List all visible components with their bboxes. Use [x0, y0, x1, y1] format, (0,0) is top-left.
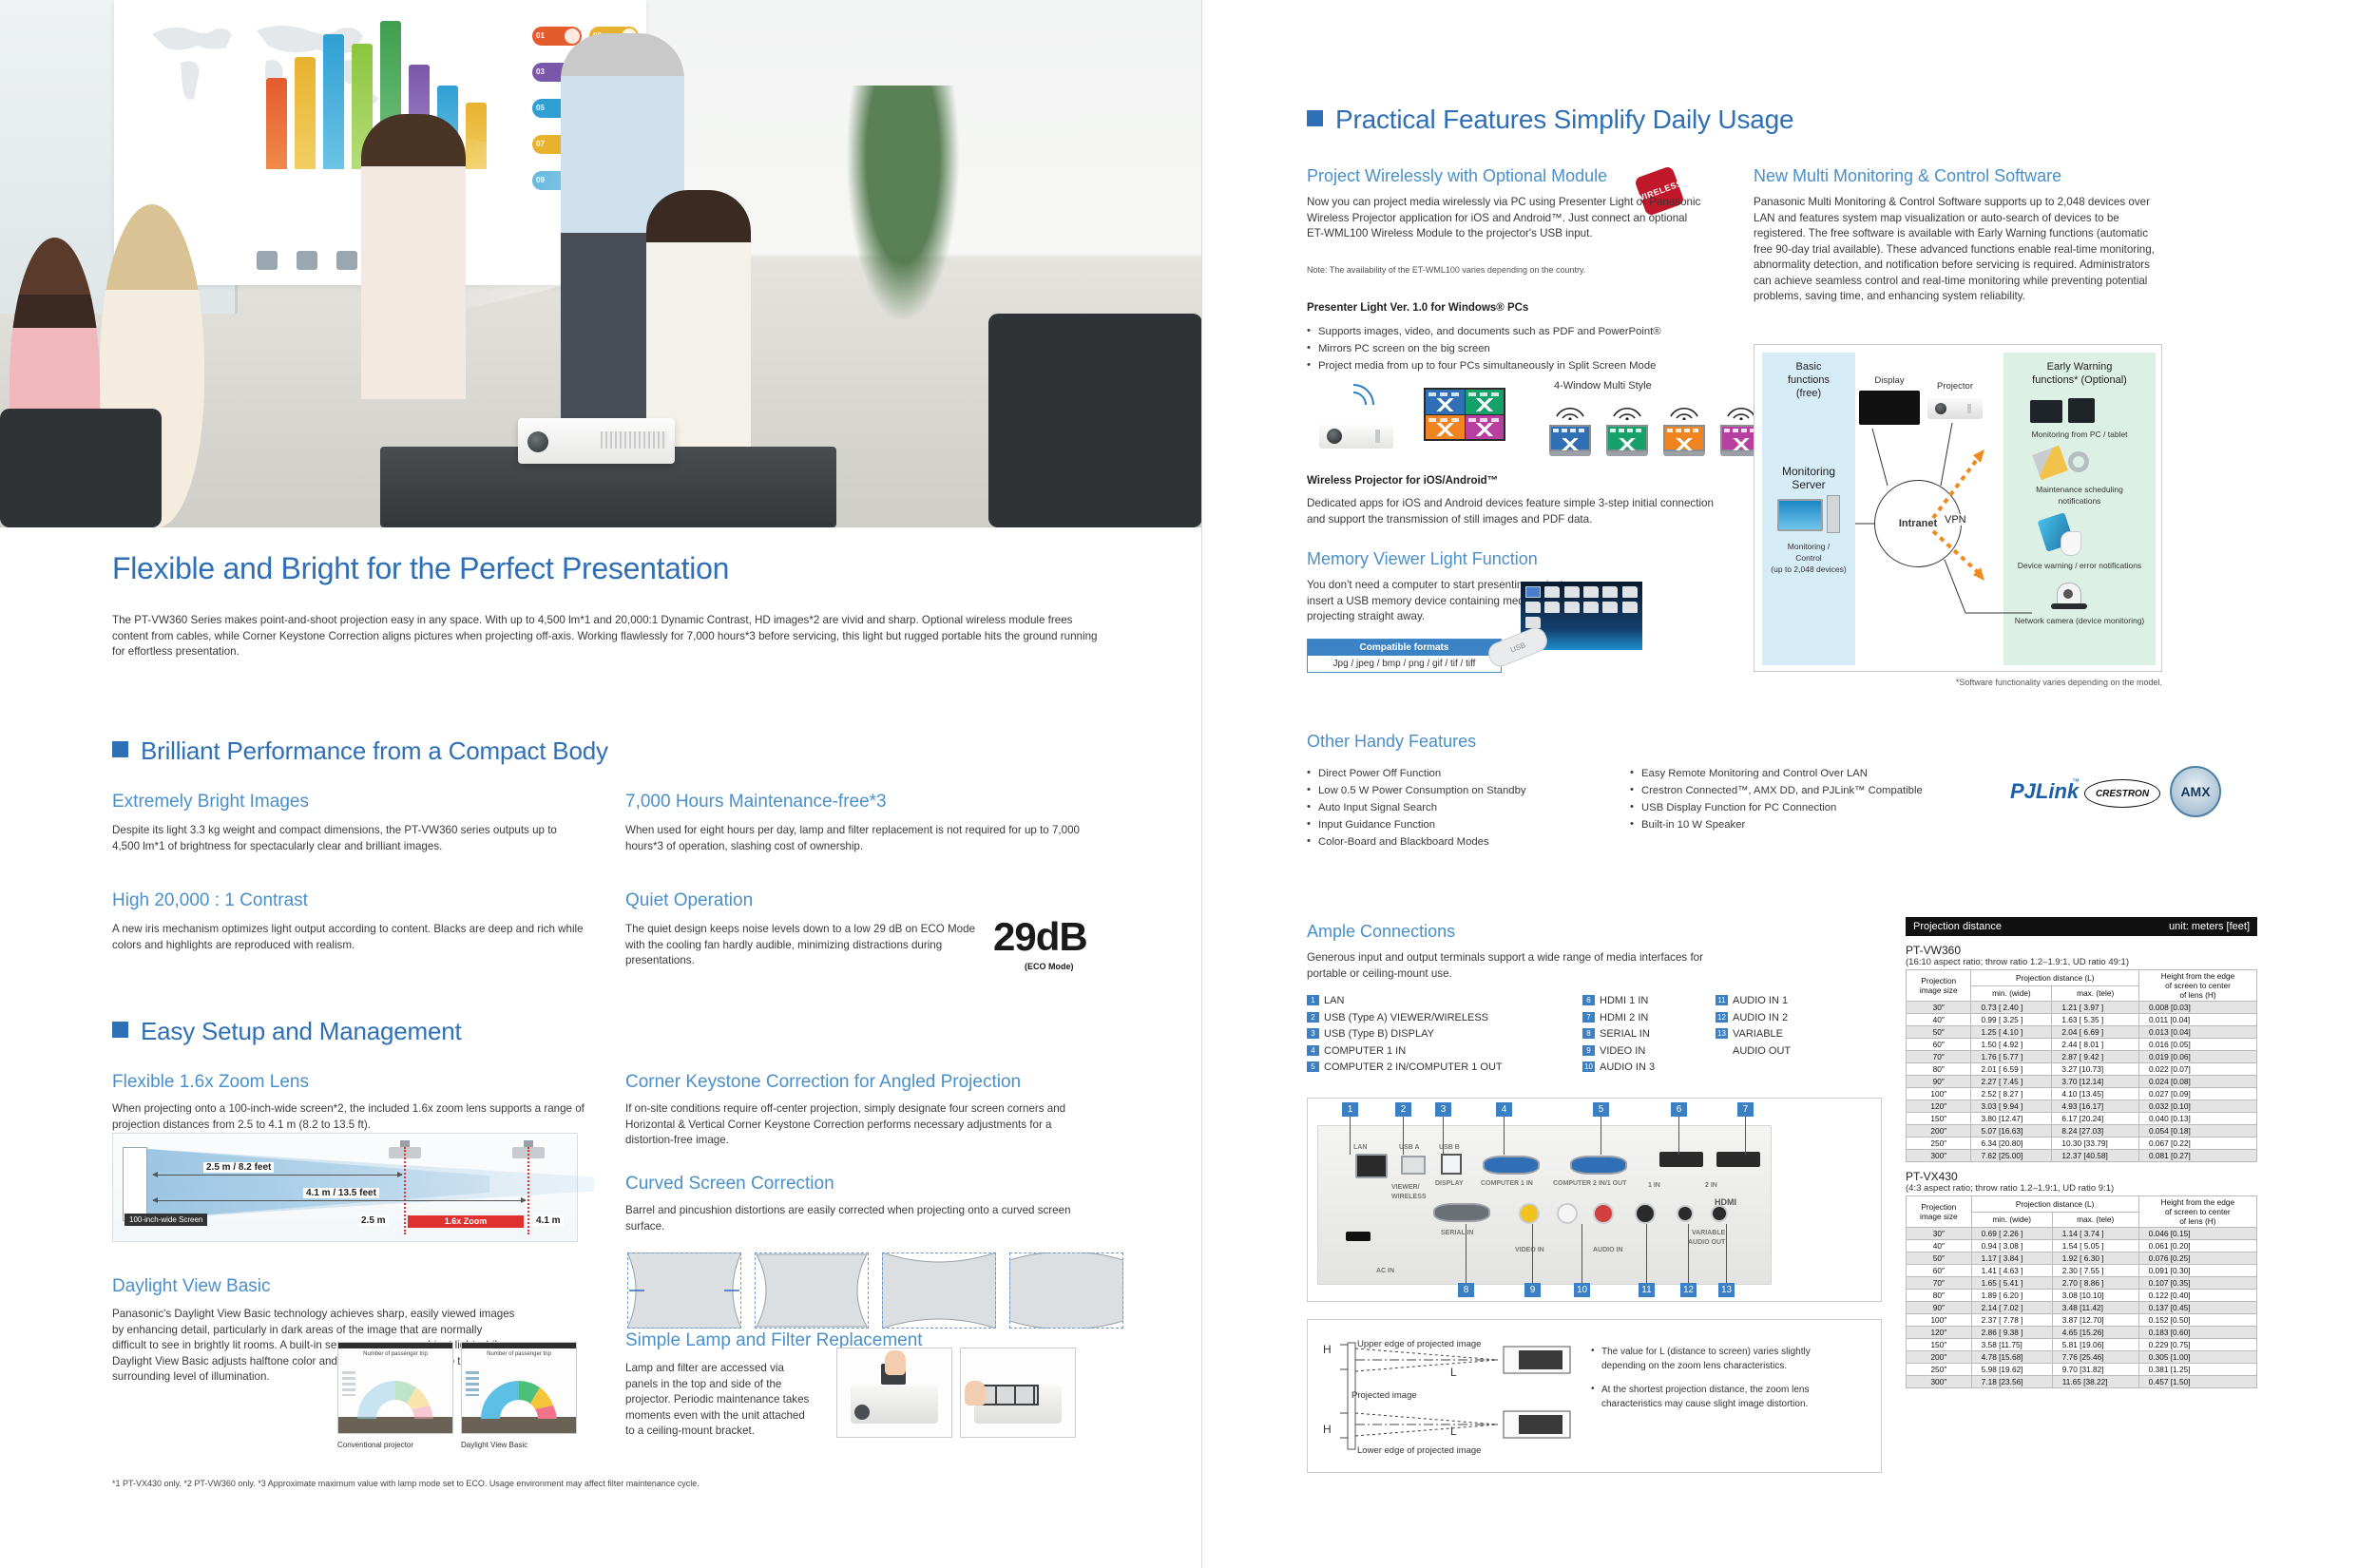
table-row: 120″2.86 [ 9.38 ]4.65 [15.26]0.183 [0.60…	[1907, 1327, 2257, 1339]
other-features-title: Other Handy Features	[1307, 732, 1476, 752]
connection-item: 10AUDIO IN 3	[1582, 1060, 1655, 1077]
folder-icon	[1544, 602, 1560, 613]
terminal-callout: 10	[1574, 1283, 1590, 1297]
projection-distance-table-vw360: Projectionimage size Projection distance…	[1906, 969, 2257, 1162]
usb-stick-icon: USB	[1485, 624, 1550, 670]
geometry-note: At the shortest projection distance, the…	[1591, 1383, 1829, 1411]
callout-leader	[1601, 1117, 1601, 1155]
table-cell: 0.046 [0.15]	[2138, 1228, 2256, 1240]
callout-leader	[1403, 1117, 1404, 1155]
table-cell: 0.081 [0.27]	[2138, 1150, 2256, 1162]
connection-number	[1716, 1045, 1728, 1056]
table-row: 200″5.07 [16.63]8.24 [27.03]0.054 [0.18]	[1907, 1125, 2257, 1138]
th-max-tele: max. (tele)	[2052, 1212, 2138, 1228]
terminal-callout: 13	[1718, 1283, 1735, 1297]
table-cell: 0.229 [0.75]	[2138, 1339, 2256, 1351]
folder-icon	[1583, 586, 1599, 598]
table-row: 150″3.58 [11.75]5.81 [19.06]0.229 [0.75]	[1907, 1339, 2257, 1351]
table-cell: 6.34 [20.80]	[1971, 1138, 2052, 1150]
connection-number: 7	[1582, 1012, 1595, 1023]
table-cell: 3.80 [12.47]	[1971, 1113, 2052, 1125]
connection-label: AUDIO IN 3	[1600, 1061, 1655, 1073]
table-cell: 50″	[1907, 1252, 1972, 1265]
label-computer2: COMPUTER 2 IN/1 OUT	[1553, 1180, 1626, 1187]
table-cell: 2.37 [ 7.78 ]	[1971, 1314, 2052, 1327]
table-cell: 0.022 [0.07]	[2138, 1063, 2256, 1076]
folder-icon	[1602, 602, 1618, 613]
other-feature-item: Built-in 10 W Speaker	[1630, 816, 1982, 833]
other-features-right: Easy Remote Monitoring and Control Over …	[1630, 765, 1982, 833]
table-cell: 80″	[1907, 1290, 1972, 1302]
table-cell: 0.152 [0.50]	[2138, 1314, 2256, 1327]
table-cell: 30″	[1907, 1002, 1971, 1014]
folder-icon	[1564, 586, 1580, 598]
table-cell: 60″	[1907, 1265, 1972, 1277]
terminal-callout: 11	[1639, 1283, 1655, 1297]
geometry-note: The value for L (distance to screen) var…	[1591, 1345, 1829, 1373]
label-viewer: VIEWER/	[1391, 1184, 1420, 1191]
wifi-icon	[1549, 403, 1591, 420]
table-cell: 0.457 [1.50]	[2138, 1376, 2256, 1388]
terminal-callout: 7	[1737, 1102, 1754, 1117]
laptop-with-wifi	[1549, 403, 1591, 456]
maintenance-label: Maintenance scheduling notifications	[2003, 484, 2156, 507]
label-hdmi1in: 1 IN	[1648, 1182, 1660, 1189]
camera-base	[2051, 603, 2087, 609]
folder-icon	[1622, 586, 1638, 598]
table-cell: 4.78 [15.68]	[1971, 1351, 2052, 1364]
table-cell: 150″	[1907, 1113, 1971, 1125]
table-cell: 90″	[1907, 1302, 1972, 1314]
connection-label: USB (Type B) DISPLAY	[1324, 1028, 1434, 1040]
table-cell: 2.86 [ 9.38 ]	[1971, 1327, 2052, 1339]
table-cell: 0.032 [0.10]	[2138, 1100, 2256, 1113]
table-row: 30″0.69 [ 2.26 ]1.14 [ 3.74 ]0.046 [0.15…	[1907, 1228, 2257, 1240]
folder-icon	[1525, 617, 1541, 628]
table-cell: 70″	[1907, 1277, 1972, 1290]
label-variable: VARIABLE	[1692, 1230, 1725, 1236]
table-cell: 1.17 [ 3.84 ]	[1971, 1252, 2052, 1265]
monitoring-from-pc-label: Monitoring from PC / tablet	[2003, 429, 2156, 440]
folder-icon	[1525, 602, 1541, 613]
table-cell: 0.054 [0.18]	[2138, 1125, 2256, 1138]
quad-magenta	[1466, 415, 1505, 440]
audio-in-3-r	[1593, 1203, 1614, 1224]
table-cell: 0.122 [0.40]	[2138, 1290, 2256, 1302]
other-feature-item: Direct Power Off Function	[1307, 765, 1620, 782]
table-cell: 120″	[1907, 1327, 1972, 1339]
th-distance: Projection distance (L)	[1971, 970, 2139, 986]
table-cell: 1.14 [ 3.74 ]	[2052, 1228, 2138, 1240]
callout-leader	[1466, 1224, 1467, 1283]
projection-geometry-diagram: H H L L Upper edge of projected image Lo…	[1307, 1319, 1882, 1473]
label-serial: SERIAL IN	[1441, 1230, 1474, 1236]
diagram-dashline-near	[404, 1147, 406, 1234]
table-cell: 2.70 [ 8.86 ]	[2052, 1277, 2138, 1290]
laptop-icon	[1663, 425, 1705, 456]
table-row: 70″1.76 [ 5.77 ]2.87 [ 9.42 ]0.019 [0.06…	[1907, 1051, 2257, 1063]
filter-replacement-photo	[960, 1348, 1076, 1438]
table-row: 60″1.50 [ 4.92 ]2.44 [ 8.01 ]0.016 [0.05…	[1907, 1039, 2257, 1051]
audio-in-1-port	[1635, 1203, 1656, 1224]
step-pill: 01	[532, 27, 582, 46]
table-cell: 2.30 [ 7.55 ]	[2052, 1265, 2138, 1277]
selected-item-icon	[1525, 586, 1541, 598]
table-cell: 3.87 [12.70]	[2052, 1314, 2138, 1327]
table-cell: 0.040 [0.13]	[2138, 1113, 2256, 1125]
feature-title-mmc: New Multi Monitoring & Control Software	[1754, 166, 2061, 186]
feature-body-quiet: The quiet design keeps noise levels down…	[625, 922, 987, 969]
th-max-tele: max. (tele)	[2052, 985, 2139, 1002]
table-row: 90″2.14 [ 7.02 ]3.48 [11.42]0.137 [0.45]	[1907, 1302, 2257, 1314]
laptop-with-wifi	[1606, 403, 1648, 456]
connection-label: SERIAL IN	[1600, 1028, 1650, 1040]
connection-label: VARIABLE	[1733, 1028, 1783, 1040]
table-cell: 1.21 [ 3.97 ]	[2052, 1002, 2139, 1014]
table-cell: 1.76 [ 5.77 ]	[1971, 1051, 2052, 1063]
connection-number: 9	[1582, 1045, 1595, 1056]
vpn-label: VPN	[1943, 514, 1968, 526]
folder-icon	[1564, 602, 1580, 613]
camera-lens	[2063, 589, 2073, 599]
hand-icon	[885, 1350, 906, 1375]
th-height: Height from the edgeof screen to centero…	[2138, 970, 2256, 1002]
upper-edge-label: Upper edge of projected image	[1357, 1339, 1481, 1349]
table-row: 150″3.80 [12.47]6.17 [20.24]0.040 [0.13]	[1907, 1113, 2257, 1125]
laptop-with-wifi	[1663, 403, 1705, 456]
daylight-caption-conventional: Conventional projector	[337, 1441, 413, 1449]
table-cell: 10.30 [33.79]	[2052, 1138, 2139, 1150]
presenter-bullet: Project media from up to four PCs simult…	[1307, 357, 1744, 374]
table-cell: 50″	[1907, 1026, 1971, 1039]
label-audio-in: AUDIO IN	[1593, 1247, 1623, 1253]
connections-body: Generous input and output terminals supp…	[1307, 950, 1744, 982]
other-feature-item: Auto Input Signal Search	[1307, 799, 1620, 816]
connection-number: 3	[1307, 1028, 1319, 1039]
laptop-base	[1549, 451, 1591, 456]
monitoring-diagram: Basic functions (free) Early Warning fun…	[1754, 344, 2162, 672]
table-cell: 2.27 [ 7.45 ]	[1971, 1076, 2052, 1088]
connection-item: 6HDMI 1 IN	[1582, 993, 1655, 1010]
terminal-callout: 6	[1671, 1102, 1687, 1117]
quad-orange	[1426, 415, 1465, 440]
table-cell: 300″	[1907, 1376, 1972, 1388]
connection-label: COMPUTER 1 IN	[1324, 1045, 1406, 1057]
table-cell: 5.98 [19.62]	[1971, 1364, 2052, 1376]
table-cell: 0.011 [0.04]	[2138, 1014, 2256, 1026]
table-cell: 2.04 [ 6.69 ]	[2052, 1026, 2139, 1039]
terminal-callout: 12	[1680, 1283, 1697, 1297]
th-height: Height from the edgeof screen to centero…	[2138, 1196, 2256, 1228]
wireless-note: Note: The availability of the ET-WML100 …	[1307, 264, 1716, 276]
table-cell: 0.013 [0.04]	[2138, 1026, 2256, 1039]
table-cell: 1.92 [ 6.30 ]	[2052, 1252, 2138, 1265]
table-cell: 150″	[1907, 1339, 1972, 1351]
projector-light	[1375, 430, 1380, 443]
connection-number: 12	[1716, 1012, 1728, 1023]
terminal-callout: 9	[1524, 1283, 1541, 1297]
l-label-bottom: L	[1450, 1425, 1457, 1438]
pc-monitor-icon	[2030, 400, 2062, 423]
terminal-panel-photo: LAN USB A USB B DISPLAY VIEWER/ WIRELESS…	[1307, 1098, 1882, 1302]
connection-label: HDMI 2 IN	[1600, 1012, 1648, 1023]
table-cell: 250″	[1907, 1138, 1971, 1150]
table-cell: 0.183 [0.60]	[2138, 1327, 2256, 1339]
curve-shape-pincushion-h	[627, 1252, 741, 1329]
person-woman-3	[361, 114, 466, 399]
laptop-base	[1606, 451, 1648, 456]
laptop-icon	[1549, 425, 1591, 456]
diagram-arrow-min	[153, 1175, 402, 1176]
label-video: VIDEO IN	[1515, 1247, 1544, 1253]
callout-leader	[1443, 1117, 1444, 1155]
folder-icon	[1622, 602, 1638, 613]
table-cell: 2.44 [ 8.01 ]	[2052, 1039, 2139, 1051]
table-cell: 40″	[1907, 1240, 1972, 1252]
table-cell: 3.27 [10.73]	[2052, 1063, 2139, 1076]
table-cell: 3.03 [ 9.94 ]	[1971, 1100, 2052, 1113]
table-cell: 0.016 [0.05]	[2138, 1039, 2256, 1051]
table-row: 250″5.98 [19.62]9.70 [31.82]0.381 [1.25]	[1907, 1364, 2257, 1376]
table-row: 90″2.27 [ 7.45 ]3.70 [12.14]0.024 [0.08]	[1907, 1076, 2257, 1088]
label-computer1: COMPUTER 1 IN	[1481, 1180, 1533, 1187]
daylight-image-dvb: Number of passenger trip	[461, 1342, 577, 1434]
table-row: 200″4.78 [15.68]7.76 [25.46]0.305 [1.00]	[1907, 1351, 2257, 1364]
feature-body-curved: Barrel and pincushion distortions are ea…	[625, 1203, 1072, 1234]
hand-icon	[965, 1381, 986, 1405]
hdmi1-port	[1659, 1152, 1703, 1167]
other-feature-item: Color-Board and Blackboard Modes	[1307, 833, 1620, 851]
presenter-bullet: Mirrors PC screen on the big screen	[1307, 340, 1744, 357]
connection-label: AUDIO OUT	[1733, 1045, 1791, 1057]
table-cell: 40″	[1907, 1014, 1971, 1026]
diagram-right-value: 4.1 m	[533, 1215, 564, 1226]
table-cell: 4.93 [16.17]	[2052, 1100, 2139, 1113]
feature-body-contrast: A new iris mechanism optimizes light out…	[112, 922, 587, 953]
section-bullet-square	[112, 741, 128, 757]
pd-title: Projection distance	[1913, 921, 2002, 932]
table-cell: 0.107 [0.35]	[2138, 1277, 2256, 1290]
security-slot	[1346, 1232, 1371, 1241]
connection-number: 1	[1307, 995, 1319, 1005]
audio-in-3-l	[1557, 1203, 1578, 1224]
table-cell: 60″	[1907, 1039, 1971, 1051]
table-row: 100″2.37 [ 7.78 ]3.87 [12.70]0.152 [0.50…	[1907, 1314, 2257, 1327]
ios-android-title: Wireless Projector for iOS/Android™	[1307, 475, 1498, 487]
connections-column-1: 1LAN2USB (Type A) VIEWER/WIRELESS3USB (T…	[1307, 993, 1503, 1077]
diagram-arrow-max	[153, 1200, 526, 1201]
connection-number: 10	[1582, 1061, 1595, 1072]
presenter-bullet-list: Supports images, video, and documents su…	[1307, 323, 1744, 374]
connection-label: AUDIO IN 2	[1733, 1012, 1788, 1023]
bulb-icon	[336, 251, 357, 270]
table2-model: PT-VX430	[1906, 1170, 2257, 1183]
table-cell: 0.94 [ 3.08 ]	[1971, 1240, 2052, 1252]
connection-number: 5	[1307, 1061, 1319, 1072]
table-cell: 3.70 [12.14]	[2052, 1076, 2139, 1088]
halfdonut-conventional	[338, 1364, 452, 1421]
projector-vents	[601, 431, 667, 449]
usb-b-port	[1441, 1154, 1462, 1175]
connections-column-3: 11AUDIO IN 112AUDIO IN 213VARIABLE AUDIO…	[1716, 993, 1791, 1060]
wifi-icon	[1606, 403, 1648, 420]
table-cell: 120″	[1907, 1100, 1971, 1113]
callout-leader	[1678, 1117, 1679, 1155]
curve-shape-barrel-v	[1009, 1252, 1123, 1329]
table-cell: 0.024 [0.08]	[2138, 1076, 2256, 1088]
sofa-left	[0, 409, 162, 527]
presenter-bullet: Supports images, video, and documents su…	[1307, 323, 1744, 340]
table-cell: 2.14 [ 7.02 ]	[1971, 1302, 2052, 1314]
projection-distance-table-vx430: Projectionimage size Projection distance…	[1906, 1195, 2257, 1388]
feature-title-zoomlens: Flexible 1.6x Zoom Lens	[112, 1072, 309, 1093]
callout-leader	[1646, 1224, 1647, 1283]
connection-item: 12AUDIO IN 2	[1716, 1010, 1791, 1027]
table-cell: 1.41 [ 4.63 ]	[1971, 1265, 2052, 1277]
legend-conventional	[342, 1371, 355, 1396]
variable-audio-out-port	[1711, 1205, 1728, 1222]
h-label-bottom: H	[1323, 1423, 1332, 1436]
table2-spec: (4:3 aspect ratio; throw ratio 1.2–1.9:1…	[1906, 1183, 2257, 1194]
label-lan: LAN	[1353, 1144, 1367, 1151]
table-cell: 1.54 [ 5.05 ]	[2052, 1240, 2138, 1252]
legend-dvb	[466, 1371, 479, 1396]
th-min-wide: min. (wide)	[1971, 985, 2052, 1002]
callout-leader	[1350, 1117, 1351, 1155]
callout-leader	[1532, 1224, 1533, 1283]
geometry-notes: The value for L (distance to screen) var…	[1591, 1345, 1829, 1421]
diagram-dashline-far	[527, 1147, 529, 1234]
connection-item: AUDIO OUT	[1716, 1043, 1791, 1061]
table-row: 80″1.89 [ 6.20 ]3.08 [10.10]0.122 [0.40]	[1907, 1290, 2257, 1302]
serial-in-port	[1433, 1203, 1490, 1222]
projector-device	[518, 418, 675, 464]
table-row: 60″1.41 [ 4.63 ]2.30 [ 7.55 ]0.091 [0.30…	[1907, 1265, 2257, 1277]
rear-panel	[1317, 1125, 1772, 1285]
split-screen-illustration	[1424, 388, 1505, 441]
label-wireless: WIRELESS	[1391, 1194, 1427, 1200]
halfdonut-dvb	[462, 1364, 576, 1421]
table-row: 30″0.73 [ 2.40 ]1.21 [ 3.97 ]0.008 [0.03…	[1907, 1002, 2257, 1014]
video-in-port	[1519, 1203, 1540, 1224]
connection-item: 9VIDEO IN	[1582, 1043, 1655, 1061]
zoom-lens-diagram: 2.5 m / 8.2 feet 4.1 m / 13.5 feet 1.6x …	[112, 1133, 578, 1242]
projection-distance-header: Projection distance unit: meters [feet]	[1906, 917, 2257, 936]
device-warning-label: Device warning / error notifications	[2003, 560, 2156, 571]
diagram-screen-label: 100-inch-wide Screen	[125, 1214, 207, 1226]
table-row: 50″1.17 [ 3.84 ]1.92 [ 6.30 ]0.076 [0.25…	[1907, 1252, 2257, 1265]
computer2-in-port	[1570, 1156, 1627, 1175]
folder-grid	[1525, 586, 1638, 628]
th-distance: Projection distance (L)	[1971, 1196, 2138, 1213]
callout-leader	[1582, 1224, 1582, 1283]
section-heading-performance: Brilliant Performance from a Compact Bod…	[112, 736, 608, 766]
connection-label: AUDIO IN 1	[1733, 995, 1788, 1006]
connection-label: VIDEO IN	[1600, 1045, 1645, 1057]
table-row: 40″0.94 [ 3.08 ]1.54 [ 5.05 ]0.061 [0.20…	[1907, 1240, 2257, 1252]
other-feature-item: USB Display Function for PC Connection	[1630, 799, 1982, 816]
feature-body-hours: When used for eight hours per day, lamp …	[625, 823, 1101, 854]
terminal-callout: 4	[1496, 1102, 1512, 1117]
table-cell: 0.73 [ 2.40 ]	[1971, 1002, 2052, 1014]
daylight-image-conventional: Number of passenger trip	[337, 1342, 453, 1434]
table1-spec: (16:10 aspect ratio; throw ratio 1.2–1.9…	[1906, 957, 2257, 967]
connection-item: 13VARIABLE	[1716, 1026, 1791, 1043]
label-display: DISPLAY	[1435, 1180, 1464, 1187]
formats-value: Jpg / jpeg / bmp / png / gif / tif / tif…	[1308, 656, 1501, 672]
amx-logo: AMX	[2170, 766, 2221, 817]
table-cell: 12.37 [40.58]	[2052, 1150, 2139, 1162]
table-cell: 0.99 [ 3.25 ]	[1971, 1014, 2052, 1026]
laptop-row	[1549, 403, 1762, 456]
laptop-icon	[1606, 425, 1648, 456]
left-page: 01020304050607080910	[0, 0, 1202, 1568]
table-cell: 11.65 [38.22]	[2052, 1376, 2138, 1388]
table-cell: 70″	[1907, 1051, 1971, 1063]
callout-leader	[1726, 1224, 1727, 1283]
folder-icon	[1583, 602, 1599, 613]
folder-icon	[1602, 586, 1618, 598]
hand-icon	[2061, 531, 2081, 556]
table-cell: 2.01 [ 6.59 ]	[1971, 1063, 2052, 1076]
l-label-top: L	[1450, 1366, 1457, 1379]
callout-leader	[1745, 1117, 1746, 1155]
crestron-logo: CRESTRON	[2084, 779, 2160, 808]
brochure-page: 01020304050607080910	[0, 0, 2358, 1568]
daylight-chart-title: Number of passenger trip	[462, 1351, 576, 1357]
other-feature-item: Easy Remote Monitoring and Control Over …	[1630, 765, 1982, 782]
audio-in-2-port	[1677, 1205, 1694, 1222]
connection-label: LAN	[1324, 995, 1344, 1006]
noise-level-value: 29dB	[993, 914, 1087, 960]
projector-illustration	[1319, 424, 1393, 449]
label-ac-in: AC IN	[1376, 1268, 1394, 1274]
hero-photo: 01020304050607080910	[0, 0, 1202, 527]
table-cell: 0.69 [ 2.26 ]	[1971, 1228, 2052, 1240]
connection-item: 7HDMI 2 IN	[1582, 1010, 1655, 1027]
lower-edge-label: Lower edge of projected image	[1357, 1445, 1481, 1456]
connections-column-2: 6HDMI 1 IN7HDMI 2 IN8SERIAL IN9VIDEO IN1…	[1582, 993, 1655, 1077]
table-cell: 0.076 [0.25]	[2138, 1252, 2256, 1265]
table-cell: 6.17 [20.24]	[2052, 1113, 2139, 1125]
feature-title-wireless: Project Wirelessly with Optional Module	[1307, 166, 1607, 186]
section-bullet-square	[112, 1022, 128, 1038]
table-cell: 0.067 [0.22]	[2138, 1138, 2256, 1150]
table-cell: 0.027 [0.09]	[2138, 1088, 2256, 1100]
intro-paragraph: The PT-VW360 Series makes point-and-shoo…	[112, 613, 1105, 660]
section-heading-setup: Easy Setup and Management	[112, 1017, 462, 1046]
connection-item: 11AUDIO IN 1	[1716, 993, 1791, 1010]
feature-body-daylight: Panasonic's Daylight View Basic technolo…	[112, 1307, 516, 1386]
connection-label: HDMI 1 IN	[1600, 995, 1648, 1006]
terminal-callout: 1	[1342, 1102, 1358, 1117]
table-cell: 3.48 [11.42]	[2052, 1302, 2138, 1314]
connection-number: 8	[1582, 1028, 1595, 1039]
diagram-left-value: 2.5 m	[358, 1215, 389, 1226]
network-camera-icon	[2057, 583, 2081, 605]
table-cell: 5.81 [19.06]	[2052, 1339, 2138, 1351]
table-cell: 5.07 [16.63]	[1971, 1125, 2052, 1138]
ios-android-body: Dedicated apps for iOS and Android devic…	[1307, 496, 1735, 527]
potted-plant	[846, 86, 960, 323]
table-cell: 1.63 [ 5.35 ]	[2052, 1014, 2139, 1026]
label-audio-out: AUDIO OUT	[1688, 1239, 1725, 1246]
table-cell: 0.137 [0.45]	[2138, 1302, 2256, 1314]
feature-body-bright: Despite its light 3.3 kg weight and comp…	[112, 823, 587, 854]
terminal-callout: 2	[1395, 1102, 1411, 1117]
mmc-note: *Software functionality varies depending…	[1754, 677, 2162, 688]
table-cell: 2.87 [ 9.42 ]	[2052, 1051, 2139, 1063]
